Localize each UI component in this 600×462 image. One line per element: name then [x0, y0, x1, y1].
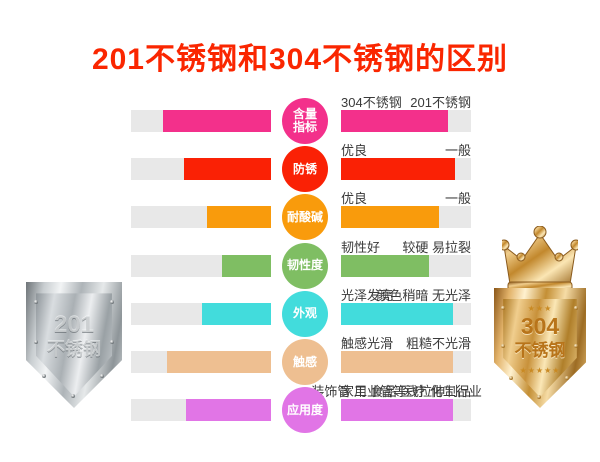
category-badge-label: 防锈 [293, 163, 317, 176]
bar-track-left [131, 158, 271, 180]
comparison-row: 颜色稍暗 无光泽光泽发亮外观 [0, 287, 600, 335]
bar-track-left [131, 351, 271, 373]
bar-track-left [131, 110, 271, 132]
category-badge-label: 应用度 [287, 404, 323, 417]
bar-fill-left [184, 158, 271, 180]
bar-fill-right [341, 158, 455, 180]
row-label-right: 光泽发亮 [341, 285, 393, 304]
category-badge-label: 耐酸碱 [287, 211, 323, 224]
bar-fill-left [163, 110, 271, 132]
infographic-canvas: 201不锈钢和304不锈钢的区别 201 不锈钢 [0, 0, 600, 462]
bar-fill-left [207, 206, 271, 228]
category-badge-label: 韧性度 [287, 259, 323, 272]
comparison-row: 201不锈钢304不锈钢含量指标 [0, 94, 600, 142]
row-label-right: 韧性好 [341, 237, 380, 256]
category-badge[interactable]: 含量指标 [282, 98, 328, 144]
comparison-row: 较硬 易拉裂韧性好韧性度 [0, 239, 600, 287]
bar-fill-right [341, 399, 453, 421]
category-badge-label: 含量指标 [293, 108, 317, 134]
category-badge[interactable]: 外观 [282, 291, 328, 337]
bar-track-right [341, 206, 471, 228]
bar-fill-left [186, 399, 271, 421]
category-badge-label: 触感 [293, 356, 317, 369]
bar-fill-left [202, 303, 271, 325]
bar-track-left [131, 399, 271, 421]
bar-fill-right [341, 255, 429, 277]
bar-fill-left [222, 255, 271, 277]
bar-fill-right [341, 351, 453, 373]
row-label-left: 粗糙不光滑 [0, 333, 471, 352]
bar-track-left [131, 303, 271, 325]
comparison-row: 粗糙不光滑触感光滑触感 [0, 335, 600, 383]
bar-track-right [341, 158, 471, 180]
category-badge[interactable]: 韧性度 [282, 243, 328, 289]
row-label-left: 一般 [0, 188, 471, 207]
bar-fill-right [341, 110, 448, 132]
bar-track-left [131, 255, 271, 277]
bar-fill-right [341, 206, 439, 228]
category-badge-label: 外观 [293, 307, 317, 320]
comparison-row: 一般优良防锈 [0, 142, 600, 190]
row-label-right: 优良 [341, 188, 367, 207]
bar-track-right [341, 303, 471, 325]
bar-fill-left [167, 351, 271, 373]
row-label-left: 一般 [0, 140, 471, 159]
category-badge[interactable]: 触感 [282, 339, 328, 385]
bar-track-left [131, 206, 271, 228]
row-label-right: 304不锈钢 [341, 92, 402, 111]
bar-track-right [341, 399, 471, 421]
row-label-right: 触感光滑 [341, 333, 393, 352]
bar-track-right [341, 255, 471, 277]
comparison-row: 一般优良耐酸碱 [0, 190, 600, 238]
bar-track-right [341, 351, 471, 373]
bar-fill-right [341, 303, 453, 325]
row-label-left: 颜色稍暗 无光泽 [0, 285, 471, 304]
category-badge[interactable]: 应用度 [282, 387, 328, 433]
comparison-row: 装饰管 工业管等浅拉伸制品家用 食品 医疗 化工行业应用度 [0, 383, 600, 431]
category-badge[interactable]: 耐酸碱 [282, 194, 328, 240]
row-label-right: 优良 [341, 140, 367, 159]
bar-track-right [341, 110, 471, 132]
row-label-right: 家用 食品 医疗 化工行业 [341, 381, 482, 400]
page-title: 201不锈钢和304不锈钢的区别 [0, 34, 600, 78]
row-label-left: 较硬 易拉裂 [0, 237, 471, 256]
category-badge[interactable]: 防锈 [282, 146, 328, 192]
